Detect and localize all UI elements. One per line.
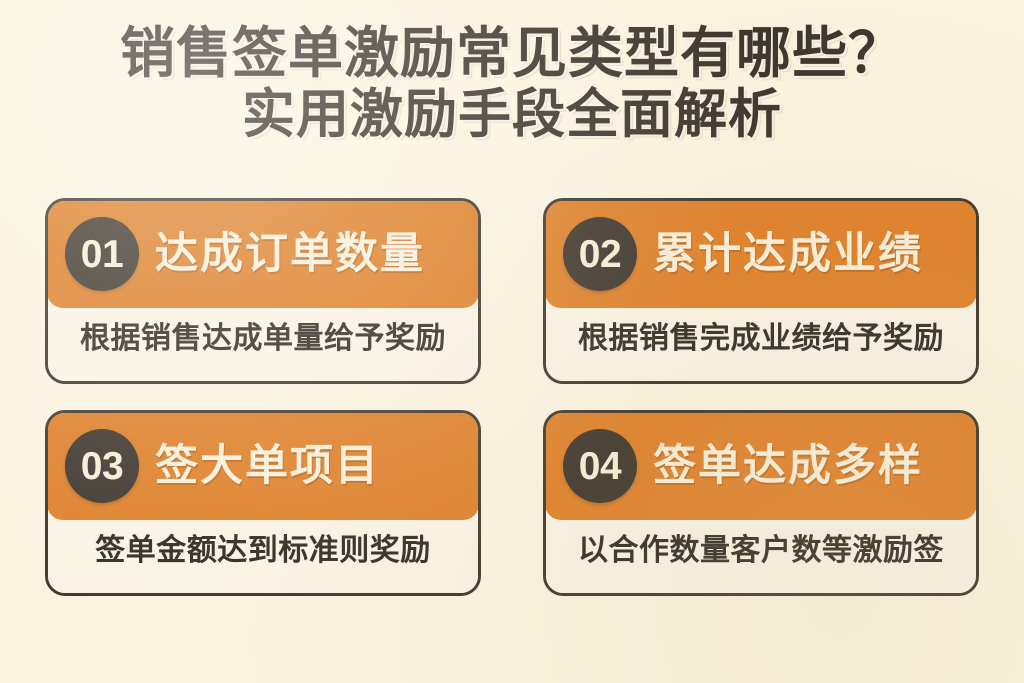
incentive-card-grid: 01 达成订单数量 根据销售达成单量给予奖励 02 累计达成业绩 根据销售完成业… bbox=[45, 198, 979, 596]
card-description-03: 签单金额达到标准则奖励 bbox=[95, 534, 431, 568]
card-body-02: 根据销售完成业绩给予奖励 bbox=[546, 308, 976, 381]
page-title: 销售签单激励常见类型有哪些？ 实用激励手段全面解析 bbox=[0, 22, 1024, 146]
card-number-badge-03: 03 bbox=[65, 429, 139, 503]
card-header-03: 03 签大单项目 bbox=[47, 412, 479, 520]
card-body-03: 签单金额达到标准则奖励 bbox=[48, 520, 478, 593]
card-number-badge-04: 04 bbox=[563, 429, 637, 503]
card-heading-01: 达成订单数量 bbox=[155, 233, 425, 276]
card-description-01: 根据销售达成单量给予奖励 bbox=[80, 322, 446, 356]
card-heading-04: 签单达成多样 bbox=[653, 445, 923, 488]
card-number-badge-01: 01 bbox=[65, 217, 139, 291]
title-line-1: 销售签单激励常见类型有哪些？ bbox=[0, 22, 1024, 84]
infographic-canvas: 销售签单激励常见类型有哪些？ 实用激励手段全面解析 01 达成订单数量 根据销售… bbox=[0, 0, 1024, 683]
incentive-card-03: 03 签大单项目 签单金额达到标准则奖励 bbox=[45, 410, 481, 596]
card-header-04: 04 签单达成多样 bbox=[545, 412, 977, 520]
card-description-04: 以合作数量客户数等激励签 bbox=[578, 534, 944, 568]
card-header-01: 01 达成订单数量 bbox=[47, 200, 479, 308]
card-heading-03: 签大单项目 bbox=[155, 445, 380, 488]
card-number-badge-02: 02 bbox=[563, 217, 637, 291]
card-heading-02: 累计达成业绩 bbox=[653, 233, 923, 276]
card-body-01: 根据销售达成单量给予奖励 bbox=[48, 308, 478, 381]
title-line-2: 实用激励手段全面解析 bbox=[0, 84, 1024, 146]
incentive-card-04: 04 签单达成多样 以合作数量客户数等激励签 bbox=[543, 410, 979, 596]
card-header-02: 02 累计达成业绩 bbox=[545, 200, 977, 308]
card-body-04: 以合作数量客户数等激励签 bbox=[546, 520, 976, 593]
card-description-02: 根据销售完成业绩给予奖励 bbox=[578, 322, 944, 356]
incentive-card-01: 01 达成订单数量 根据销售达成单量给予奖励 bbox=[45, 198, 481, 384]
incentive-card-02: 02 累计达成业绩 根据销售完成业绩给予奖励 bbox=[543, 198, 979, 384]
